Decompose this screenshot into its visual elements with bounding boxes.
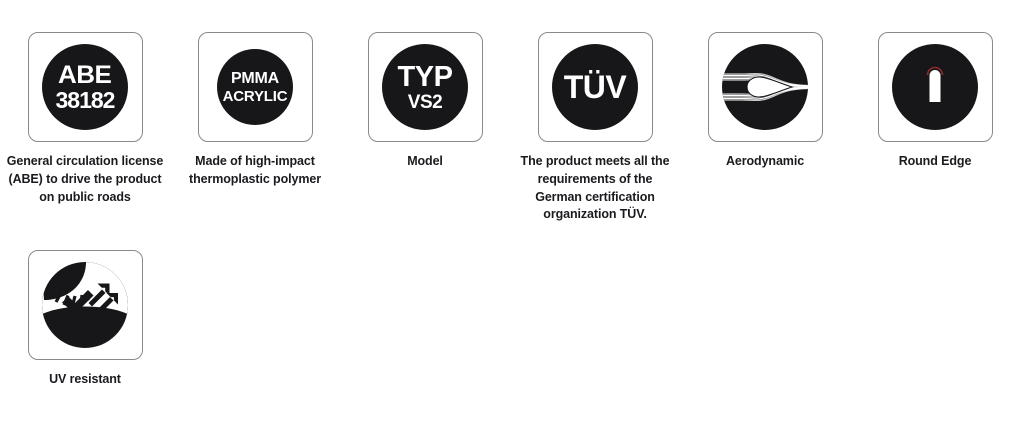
badge-card-round-edge — [878, 32, 993, 142]
badge-card-aerodynamic — [708, 32, 823, 142]
badge-item-tuv: TÜV The product meets all the requiremen… — [510, 0, 680, 224]
badge-card-uv-resistant — [28, 250, 143, 360]
typ-mark-line2: VS2 — [408, 93, 442, 112]
badge-caption-pmma: Made of high-impact thermoplastic polyme… — [175, 153, 335, 189]
aerodynamic-airflow-icon — [722, 44, 808, 130]
badge-item-round-edge: Round Edge — [850, 0, 1020, 224]
badge-caption-round-edge: Round Edge — [855, 153, 1015, 171]
feature-badge-grid: ABE 38182 General circulation license (A… — [0, 0, 1024, 389]
badge-caption-typ: Model — [345, 153, 505, 171]
tuv-certification-icon: TÜV — [552, 44, 638, 130]
model-type-icon: TYP VS2 — [382, 44, 468, 130]
badge-item-pmma: PMMA ACRYLIC Made of high-impact thermop… — [170, 0, 340, 224]
badge-card-typ: TYP VS2 — [368, 32, 483, 142]
badge-caption-abe: General circulation license (ABE) to dri… — [5, 153, 165, 206]
badge-card-pmma: PMMA ACRYLIC — [198, 32, 313, 142]
uv-resistant-sun-icon — [42, 262, 128, 348]
pmma-acrylic-icon: PMMA ACRYLIC — [217, 49, 293, 125]
badge-item-uv-resistant: UV resistant — [0, 224, 170, 389]
badge-item-typ: TYP VS2 Model — [340, 0, 510, 224]
badge-caption-tuv: The product meets all the requirements o… — [520, 153, 670, 224]
abe-mark-line2: 38182 — [56, 89, 115, 112]
tuv-mark-line1: TÜV — [564, 71, 627, 103]
badge-item-aerodynamic: Aerodynamic — [680, 0, 850, 224]
badge-caption-uv-resistant: UV resistant — [5, 371, 165, 389]
badge-card-abe: ABE 38182 — [28, 32, 143, 142]
abe-approval-icon: ABE 38182 — [42, 44, 128, 130]
pmma-mark-line1: PMMA — [231, 71, 279, 87]
badge-caption-aerodynamic: Aerodynamic — [685, 153, 845, 171]
badge-item-abe: ABE 38182 General circulation license (A… — [0, 0, 170, 224]
typ-mark-line1: TYP — [398, 63, 453, 92]
badge-card-tuv: TÜV — [538, 32, 653, 142]
pmma-mark-line2: ACRYLIC — [223, 89, 288, 104]
round-edge-icon — [892, 44, 978, 130]
abe-mark-line1: ABE — [58, 63, 111, 88]
